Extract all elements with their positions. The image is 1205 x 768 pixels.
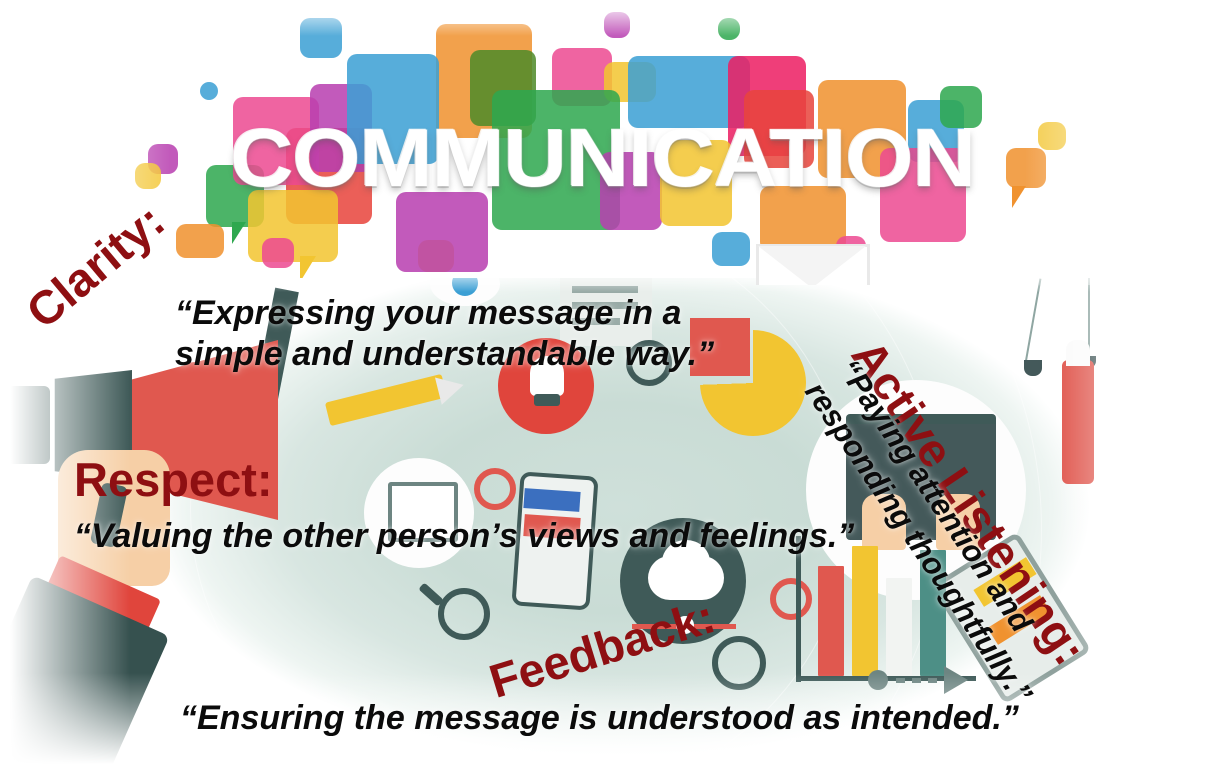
bar-chart-bar	[818, 566, 844, 676]
magnifier-icon	[438, 588, 490, 640]
gear-icon	[474, 468, 516, 510]
infographic-canvas: COMMUNICATION	[0, 0, 1205, 768]
heading-respect: Respect:	[74, 456, 273, 503]
bar-chart-bar	[852, 546, 878, 676]
bar-chart-bar	[886, 578, 912, 676]
quote-clarity-line2: simple and understandable way.”	[175, 334, 714, 375]
collage-block	[262, 238, 294, 268]
envelope-flap-icon	[758, 246, 866, 285]
quote-clarity-line1: “Expressing your message in a	[175, 293, 714, 334]
quote-feedback: “Ensuring the message is understood as i…	[180, 698, 1019, 739]
pendant-lamp-icon	[1024, 360, 1042, 376]
communication-banner-image: COMMUNICATION	[0, 0, 1205, 285]
collage-block	[200, 82, 218, 100]
smartphone-screen-stripe	[523, 488, 580, 512]
lightbulb-base-icon	[534, 394, 560, 406]
banner-top-fade	[0, 0, 1205, 36]
quote-respect: “Valuing the other person’s views and fe…	[74, 516, 854, 557]
gear-icon	[770, 578, 812, 620]
collage-block	[712, 232, 750, 266]
banner-right-fade	[1025, 0, 1205, 285]
collage-block	[176, 224, 224, 258]
bar-chart-axis-y	[796, 536, 801, 682]
quote-clarity: “Expressing your message in a simple and…	[175, 293, 714, 376]
